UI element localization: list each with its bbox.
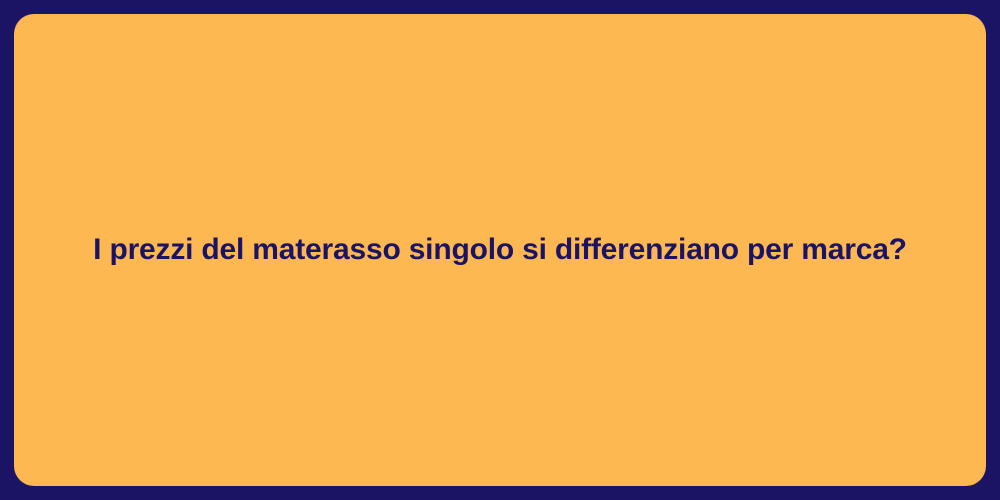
question-heading: I prezzi del materasso singolo si differ… (60, 231, 940, 269)
card-frame: I prezzi del materasso singolo si differ… (0, 0, 1000, 500)
question-card-panel: I prezzi del materasso singolo si differ… (14, 14, 986, 486)
